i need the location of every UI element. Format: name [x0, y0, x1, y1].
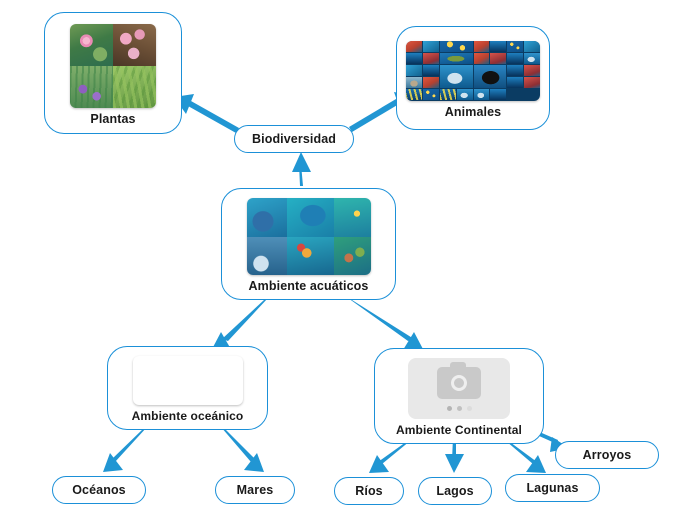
- node-mares[interactable]: Mares: [215, 476, 295, 504]
- node-rios[interactable]: Ríos: [334, 477, 404, 505]
- node-lagunas-label: Lagunas: [526, 481, 578, 495]
- edge-acuaticos-biodiversidad: [292, 152, 311, 186]
- node-ambiente-acuaticos[interactable]: Ambiente acuáticos: [221, 188, 396, 300]
- edge-oceanico-mares: [221, 427, 264, 472]
- node-plantas[interactable]: Plantas: [44, 12, 182, 134]
- node-rios-label: Ríos: [355, 484, 383, 498]
- node-oceanos[interactable]: Océanos: [52, 476, 146, 504]
- node-lagunas[interactable]: Lagunas: [505, 474, 600, 502]
- plantas-thumbnail: [70, 24, 156, 108]
- node-plantas-label: Plantas: [90, 112, 135, 126]
- node-ambiente-continental[interactable]: Ambiente Continental: [374, 348, 544, 444]
- node-ambiente-oceanico-label: Ambiente oceánico: [132, 409, 244, 423]
- ambiente-oceanico-thumbnail: [133, 356, 243, 405]
- edge-acuaticos-continental: [348, 298, 424, 351]
- camera-icon: [437, 367, 481, 399]
- node-arroyos-label: Arroyos: [583, 448, 632, 462]
- node-biodiversidad[interactable]: Biodiversidad: [234, 125, 354, 153]
- node-mares-label: Mares: [237, 483, 274, 497]
- animales-thumbnail: [406, 41, 540, 101]
- edge-oceanico-oceanos: [103, 427, 147, 472]
- ambiente-acuaticos-thumbnail: [247, 198, 371, 275]
- edge-acuaticos-oceanico: [211, 298, 268, 351]
- node-ambiente-acuaticos-label: Ambiente acuáticos: [249, 279, 369, 293]
- node-biodiversidad-label: Biodiversidad: [252, 132, 336, 146]
- node-arroyos[interactable]: Arroyos: [555, 441, 659, 469]
- node-lagos[interactable]: Lagos: [418, 477, 492, 505]
- broken-image-placeholder: [408, 358, 510, 419]
- edge-biodiversidad-plantas: [174, 94, 239, 133]
- node-ambiente-continental-label: Ambiente Continental: [396, 423, 522, 437]
- placeholder-dots-icon: [447, 406, 472, 411]
- node-oceanos-label: Océanos: [72, 483, 126, 497]
- node-ambiente-oceanico[interactable]: Ambiente oceánico: [107, 346, 268, 430]
- node-animales-label: Animales: [445, 105, 501, 119]
- mindmap-canvas: .taper { fill: #2196d3; }: [0, 0, 696, 520]
- node-lagos-label: Lagos: [436, 484, 473, 498]
- node-animales[interactable]: Animales: [396, 26, 550, 130]
